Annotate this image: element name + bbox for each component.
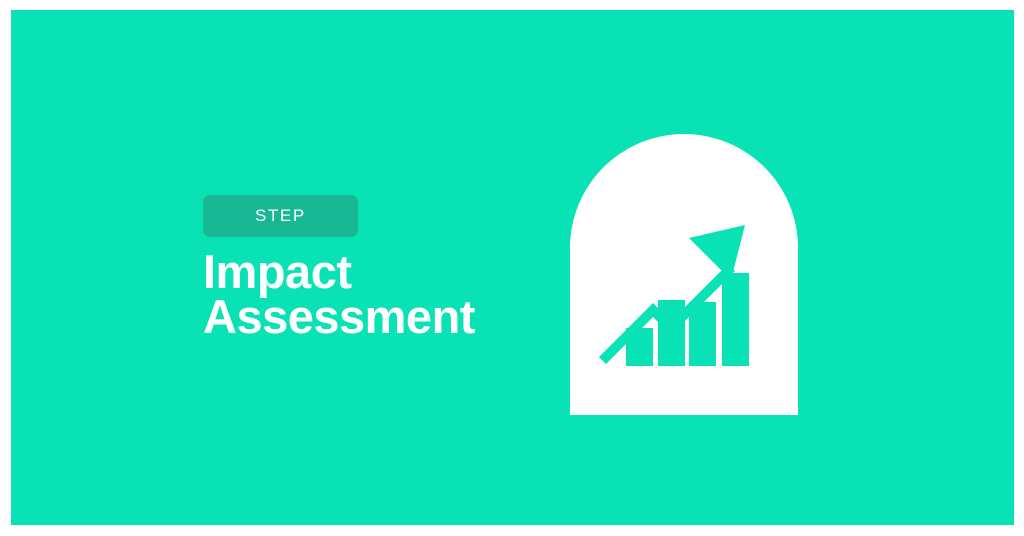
page-title-line-2: Assessment xyxy=(203,294,523,339)
page-title: Impact Assessment xyxy=(203,249,523,339)
step-badge: STEP xyxy=(203,195,358,237)
step-text-block: STEP Impact Assessment xyxy=(193,195,523,339)
slide-canvas: STEP Impact Assessment xyxy=(11,10,1014,525)
growth-chart-arch-svg xyxy=(559,122,809,422)
arch-shape xyxy=(570,134,798,415)
page-title-line-1: Impact xyxy=(203,249,523,294)
growth-chart-arch-icon xyxy=(559,122,809,422)
chart-bar-4 xyxy=(722,273,749,366)
step-badge-label: STEP xyxy=(255,206,306,225)
